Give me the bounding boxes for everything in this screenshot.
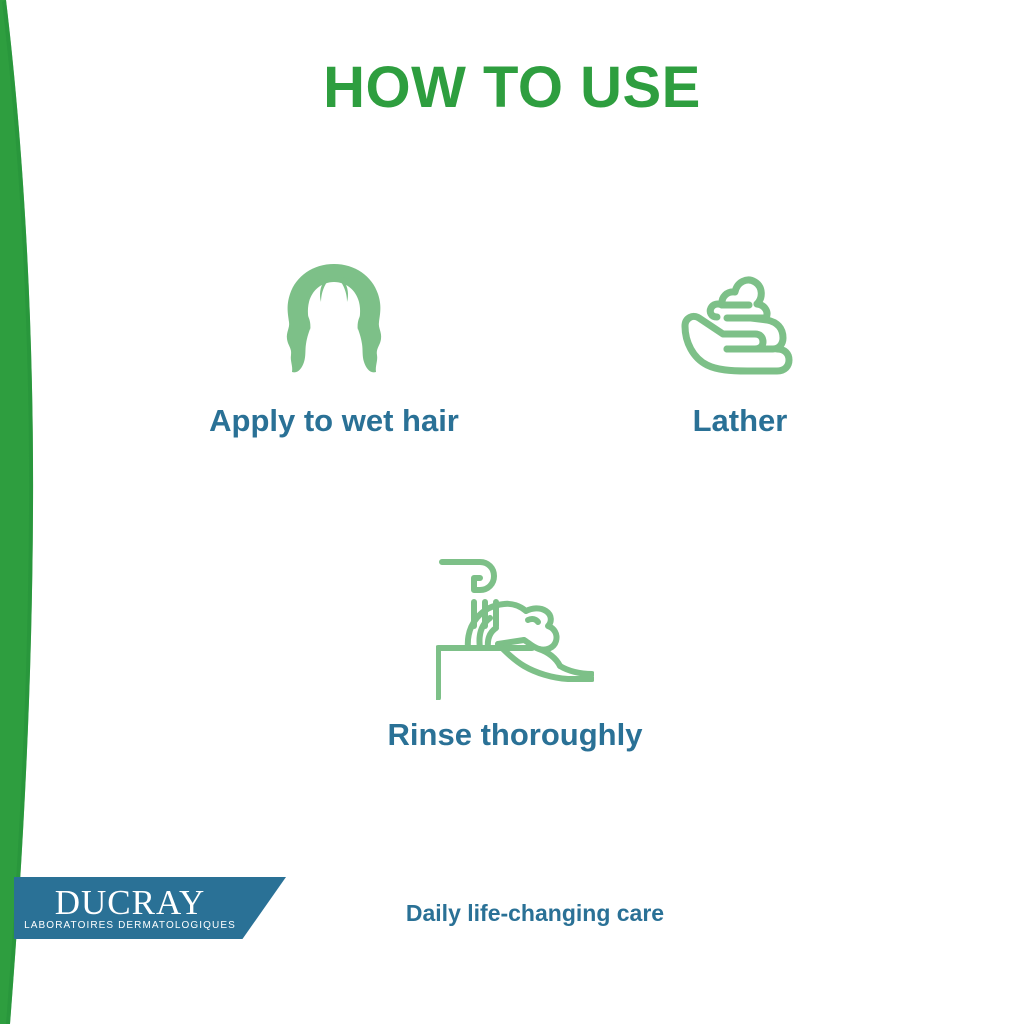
how-to-use-graphic: HOW TO USE Apply to wet hair bbox=[0, 0, 1024, 1024]
step-label: Lather bbox=[610, 402, 870, 440]
step-apply-to-wet-hair: Apply to wet hair bbox=[154, 262, 514, 440]
long-wavy-hair-icon bbox=[279, 262, 389, 382]
step-lather: Lather bbox=[610, 262, 870, 440]
step-label: Rinse thoroughly bbox=[335, 716, 695, 754]
step-label: Apply to wet hair bbox=[154, 402, 514, 440]
brand-tagline: Daily life-changing care bbox=[300, 898, 770, 928]
logo-inner: DUCRAY LABORATOIRES DERMATOLOGIQUES bbox=[14, 877, 246, 932]
page-title: HOW TO USE bbox=[0, 56, 1024, 120]
ducray-logo-banner: DUCRAY LABORATOIRES DERMATOLOGIQUES bbox=[14, 877, 286, 939]
brand-subtitle: LABORATOIRES DERMATOLOGIQUES bbox=[14, 920, 246, 932]
step-rinse-thoroughly: Rinse thoroughly bbox=[335, 552, 695, 754]
head-rinsing-under-faucet-icon bbox=[436, 552, 594, 700]
green-leaf-accent bbox=[0, 0, 60, 1024]
brand-wordmark: DUCRAY bbox=[14, 885, 246, 921]
hand-with-product-icon bbox=[677, 262, 803, 382]
